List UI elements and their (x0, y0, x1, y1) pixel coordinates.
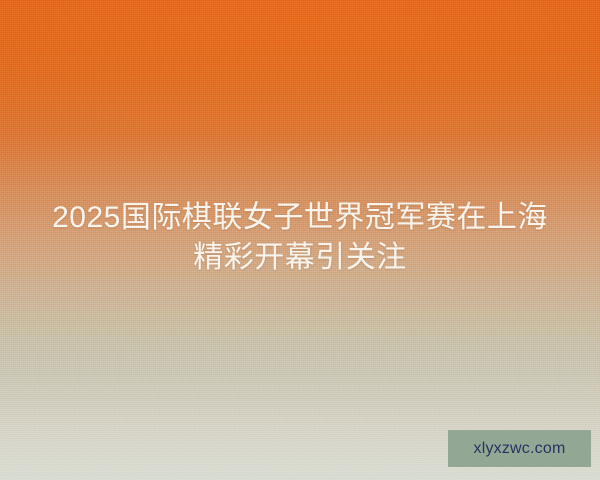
headline-title: 2025国际棋联女子世界冠军赛在上海精彩开幕引关注 (0, 198, 600, 278)
news-card: 2025国际棋联女子世界冠军赛在上海精彩开幕引关注 xlyxzwc.com (0, 0, 600, 480)
watermark-url-text: xlyxzwc.com (474, 441, 566, 457)
watermark-badge: xlyxzwc.com (448, 430, 591, 467)
